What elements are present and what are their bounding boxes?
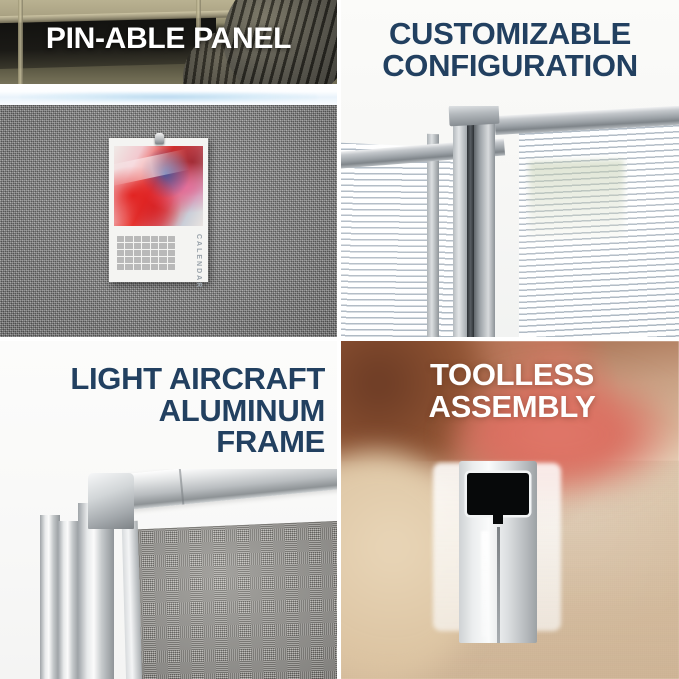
- post-cap: [448, 106, 499, 126]
- ceiling-duct-icon: [223, 0, 337, 88]
- panel-toolless-assembly: TOOLLESS ASSEMBLY: [341, 341, 679, 679]
- panel-customizable-configuration: CUSTOMIZABLE CONFIGURATION: [341, 0, 679, 337]
- fabric-infill-panel: [129, 520, 337, 679]
- panel-pin-able-panel: CALENDAR PIN-ABLE PANEL: [0, 0, 337, 337]
- extrusion-slot: [497, 527, 500, 643]
- extrusion-highlight: [481, 531, 489, 637]
- push-pin-icon: [155, 133, 164, 144]
- frame-post: [78, 503, 114, 679]
- frame-post: [58, 521, 80, 679]
- ceiling-beam-icon: [18, 0, 23, 88]
- aluminum-frame-photo: [0, 469, 337, 679]
- calendar-date-grid: [117, 236, 175, 270]
- glass-partition-photo: [341, 106, 679, 337]
- frame-corner-joint: [88, 473, 134, 529]
- ceiling-photo-backdrop: [0, 0, 337, 88]
- calendar-artwork: [114, 146, 203, 226]
- aluminum-extrusion-profile: [459, 461, 537, 643]
- frame-mullion: [427, 134, 439, 337]
- blinds-pane-right: [519, 118, 679, 337]
- frame-post: [40, 515, 60, 679]
- calendar-month-label: CALENDAR: [195, 234, 202, 289]
- panel-light-aircraft-aluminum-frame: LIGHT AIRCRAFT ALUMINUM FRAME: [0, 341, 337, 679]
- extrusion-cavity: [467, 473, 529, 515]
- connector-post: [453, 106, 495, 337]
- product-feature-collage: CALENDAR PIN-ABLE PANEL CUSTOMIZABLE CON…: [0, 0, 679, 679]
- pinned-calendar: CALENDAR: [109, 138, 208, 282]
